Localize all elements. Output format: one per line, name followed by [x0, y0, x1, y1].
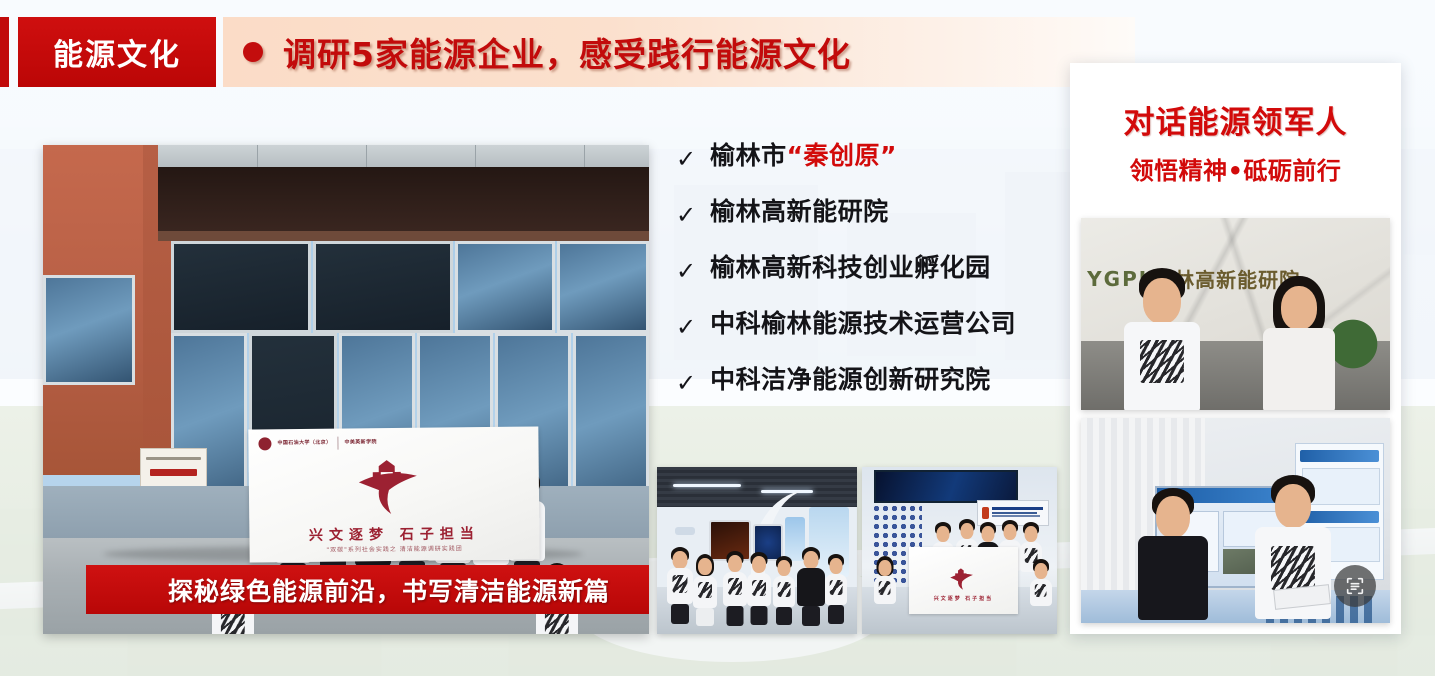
photo-banner-text: 兴文逐梦 石子担当 — [909, 595, 1018, 602]
photo-person-student — [1124, 268, 1200, 408]
checklist-item-label: 榆林高新科技创业孵化园 — [710, 254, 991, 283]
scan-document-button[interactable] — [1334, 565, 1376, 607]
banner-emblem-icon — [355, 454, 434, 517]
banner-org-right: 中美英新学院 — [344, 439, 376, 446]
photo-person-kneeling — [1030, 559, 1052, 615]
main-photo-caption: 探秘绿色能源前沿，书写清洁能源新篇 — [86, 565, 649, 614]
checklist-item-label: 中科洁净能源创新研究院 — [710, 366, 991, 395]
banner-logo-divider — [337, 437, 338, 450]
header-section-tag-label: 能源文化 — [53, 30, 181, 74]
slide-canvas: 能源文化 调研5家能源企业，感受践行能源文化 — [0, 0, 1435, 676]
checklist-item[interactable]: ✓ 中科洁净能源创新研究院 — [676, 366, 1056, 396]
photo-person — [667, 547, 693, 623]
bottom-photo-row: 兴文逐梦 石子担当 — [657, 467, 1057, 634]
photo-person — [693, 554, 717, 626]
banner-emblem-icon — [949, 565, 977, 592]
header-section-tag: 能源文化 — [18, 17, 216, 87]
main-photo-caption-text: 探秘绿色能源前沿，书写清洁能源新篇 — [168, 572, 610, 608]
banner-org-logos: 中国石油大学（北京） 中美英新学院 — [258, 436, 377, 450]
photo-wall-sign — [675, 527, 695, 535]
banner-org-left: 中国石油大学（北京） — [277, 440, 331, 447]
survey-checklist: ✓ 榆林市“秦创原” ✓ 榆林高新能研院 ✓ 榆林高新科技创业孵化园 ✓ 中科榆… — [676, 142, 1056, 422]
held-banner: 中国石油大学（北京） 中美英新学院 兴文逐梦 石子担当 "双碳"系列社会实践之 … — [248, 426, 539, 562]
project-board-discussion-photo — [1081, 418, 1390, 623]
check-mark-icon: ✓ — [676, 310, 696, 340]
photo-led-screen — [874, 470, 1018, 502]
leader-dialogue-card: 对话能源领军人 领悟精神•砥砺前行 YGPI 榆林高新能研院 — [1070, 63, 1401, 634]
photo-soffit — [158, 231, 649, 241]
photo-window-1 — [455, 241, 555, 333]
photo-person-kneeling — [874, 556, 896, 614]
checklist-item-label: 榆林高新能研院 — [710, 198, 889, 227]
photo-window-dark-2 — [313, 241, 453, 333]
photo-person-student — [1254, 475, 1332, 615]
photo-window-2 — [557, 241, 649, 333]
banner-sub-slogan: "双碳"系列社会实践之 清洁能源调研实践团 — [250, 542, 540, 554]
scan-document-icon — [1344, 575, 1366, 597]
photo-person — [773, 556, 795, 624]
university-seal-icon — [258, 437, 271, 450]
exhibition-hall-tour-photo — [657, 467, 857, 634]
checklist-item[interactable]: ✓ 榆林高新能研院 — [676, 198, 1056, 228]
photo-held-banner: 兴文逐梦 石子担当 — [909, 547, 1018, 614]
card-title-line1: 对话能源领军人 — [1070, 97, 1401, 142]
checklist-item[interactable]: ✓ 榆林市“秦创原” — [676, 142, 1056, 172]
header-title-group: 调研5家能源企业，感受践行能源文化 — [243, 17, 851, 87]
photo-person-guide — [797, 547, 825, 625]
card-title-line2: 领悟精神•砥砺前行 — [1070, 151, 1401, 186]
check-mark-icon: ✓ — [676, 198, 696, 228]
check-mark-icon: ✓ — [676, 366, 696, 396]
header-accent-bar — [0, 17, 9, 87]
photo-window-side — [43, 275, 135, 385]
photo-eave — [158, 167, 649, 233]
photo-person-engineer — [1137, 488, 1209, 616]
bullet-dot-icon — [243, 42, 263, 62]
page-title: 调研5家能源企业，感受践行能源文化 — [283, 28, 851, 76]
photo-person — [825, 554, 847, 624]
photo-person-leader — [1260, 276, 1338, 410]
checklist-item-label: 中科榆林能源技术运营公司 — [710, 310, 1016, 339]
check-mark-icon: ✓ — [676, 142, 696, 172]
photo-window-dark-1 — [171, 241, 311, 333]
incubator-group-photo: 兴文逐梦 石子担当 — [862, 467, 1057, 634]
checklist-item[interactable]: ✓ 中科榆林能源技术运营公司 — [676, 310, 1056, 340]
institute-lobby-interview-photo: YGPI 榆林高新能研院 — [1081, 218, 1390, 410]
photo-facade-topband — [158, 145, 649, 169]
checklist-item[interactable]: ✓ 榆林高新科技创业孵化园 — [676, 254, 1056, 284]
photo-person — [747, 552, 771, 624]
check-mark-icon: ✓ — [676, 254, 696, 284]
main-group-photo: 中国石油大学（北京） 中美英新学院 兴文逐梦 石子担当 "双碳"系列社会实践之 … — [43, 145, 649, 634]
photo-person — [723, 551, 747, 625]
checklist-item-label: 榆林市“秦创原” — [710, 142, 897, 171]
